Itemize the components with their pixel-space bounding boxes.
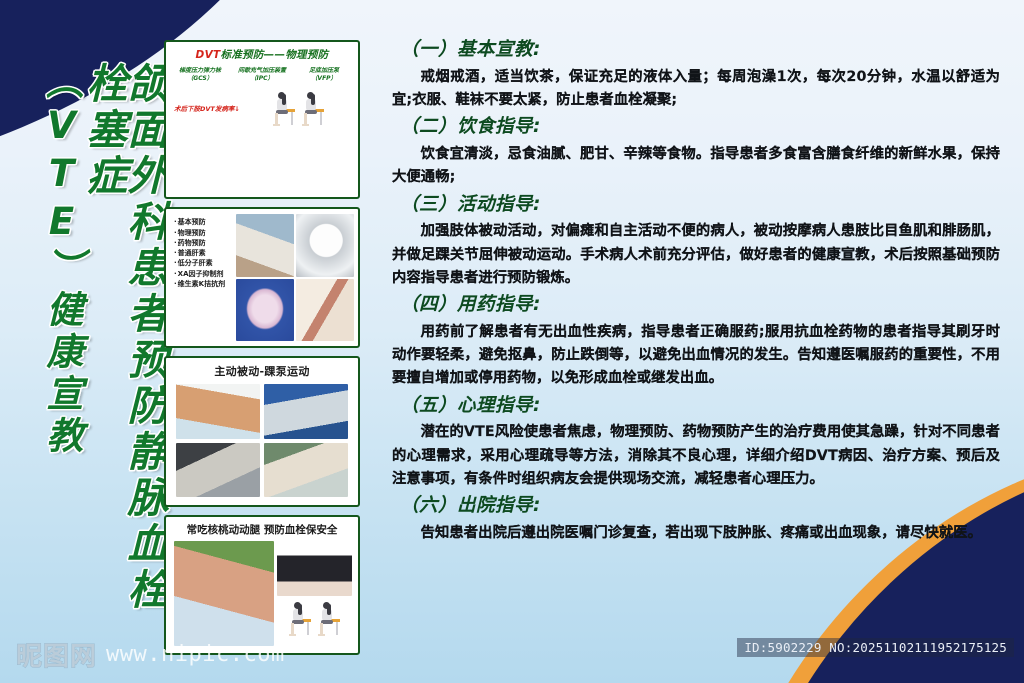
poster-vertical-title: 颌面外科患者预防静脉血栓栓塞症 （VTE）健康宣教 <box>56 62 164 642</box>
seated-exercise-figure-icon <box>287 598 313 646</box>
panel-1-title-red: DVT <box>196 49 221 61</box>
seated-exercise-figure-icon <box>300 88 326 128</box>
medication-tablet-photo <box>236 279 294 341</box>
panel-1-footer-row: 术后下肢DVT发病率↓ <box>170 88 354 128</box>
seated-leg-exercise-photo <box>277 598 352 646</box>
nurse-assisted-ankle-photo <box>264 443 348 498</box>
section-medication-guidance: （四）用药指导: 用药前了解患者有无出血性疾病，指导患者正确服药;服用抗血栓药物… <box>392 291 1000 391</box>
device-caption-gcs: 梯度压力弹力袜 （GCS） <box>172 67 228 82</box>
ankle-pump-blue-drape-photo <box>264 384 348 439</box>
list-item: 物理预防 <box>174 228 232 238</box>
panel-3-title: 主动被动-踝泵运动 <box>170 363 354 379</box>
leg-vein-anatomy-photo <box>296 279 354 341</box>
section-diet-guidance: （二）饮食指导: 饮食宜清淡，忌食油腻、肥甘、辛辣等食物。指导患者多食富含膳食纤… <box>392 113 1000 189</box>
panel-1-title: DVT标准预防——物理预防 <box>170 47 354 62</box>
title-sub-line: （VTE）健康宣教 <box>43 62 80 458</box>
device-cell-ipc: 间歇充气加压装置 （IPC） <box>234 65 290 82</box>
section-discharge-guidance: （六）出院指导: 告知患者出院后遵出院医嘱门诊复查，若出现下肢肿胀、疼痛或出血现… <box>392 492 1000 545</box>
device-caption-ipc: 间歇充气加压装置 （IPC） <box>234 67 290 82</box>
image-id-tag: ID:5902229 NO:20251102111952175125 <box>737 638 1014 657</box>
list-item: 药物预防 <box>174 238 232 248</box>
section-heading: （三）活动指导: <box>400 191 1000 220</box>
guidance-text-column: （一）基本宣教: 戒烟戒酒，适当饮茶，保证充足的液体入量；每周泡澡1次，每次20… <box>392 36 1000 651</box>
section-basic-education: （一）基本宣教: 戒烟戒酒，适当饮茶，保证充足的液体入量；每周泡澡1次，每次20… <box>392 36 1000 112</box>
section-body: 潜在的VTE风险使患者焦虑，物理预防、药物预防产生的治疗费用使其急躁，针对不同患… <box>392 421 1000 491</box>
passive-ankle-exercise-photo <box>176 443 260 498</box>
panel-4-title: 常吃核桃动动腿 预防血栓保安全 <box>170 522 354 537</box>
list-item: 普通肝素 <box>174 248 232 258</box>
section-heading: （二）饮食指导: <box>400 113 1000 142</box>
list-item: XA因子抑制剂 <box>174 269 232 279</box>
panel-4-content <box>170 540 354 648</box>
list-item: 基本预防 <box>174 217 232 227</box>
seated-exercise-figure-icon <box>271 88 297 128</box>
panel-3-image-grid <box>170 382 354 500</box>
prevention-method-list: 基本预防 物理预防 药物预防 普通肝素 低分子肝素 XA因子抑制剂 维生素K拮抗… <box>170 214 232 341</box>
compression-sleeves-photo <box>277 541 352 595</box>
section-body: 告知患者出院后遵出院医嘱门诊复查，若出现下肢肿胀、疼痛或出血现象，请尽快就医。 <box>392 522 1000 545</box>
walking-couple-photo <box>236 214 294 276</box>
leg-massage-photo <box>174 541 274 646</box>
device-caption-vfp: 足底加压泵 （VFP） <box>296 67 352 82</box>
list-item: 维生素K拮抗剂 <box>174 279 232 289</box>
section-body: 用药前了解患者有无出血性疾病，指导患者正确服药;服用抗血栓药物的患者指导其刷牙时… <box>392 321 1000 391</box>
section-body: 戒烟戒酒，适当饮茶，保证充足的液体入量；每周泡澡1次，每次20分钟，水温以舒适为… <box>392 66 1000 113</box>
panel-ankle-pump-exercise: 主动被动-踝泵运动 <box>164 356 360 507</box>
list-item: 低分子肝素 <box>174 258 232 268</box>
section-body: 加强肢体被动活动，对偏瘫和自主活动不便的病人，被动按摩病人患肢比目鱼肌和腓肠肌，… <box>392 220 1000 290</box>
section-psychological-guidance: （五）心理指导: 潜在的VTE风险使患者焦虑，物理预防、药物预防产生的治疗费用使… <box>392 392 1000 492</box>
illustration-panel-column: DVT标准预防——物理预防 梯度压力弹力袜 （GCS） 间歇充气加压装置 （IP… <box>164 40 360 655</box>
section-activity-guidance: （三）活动指导: 加强肢体被动活动，对偏瘫和自主活动不便的病人，被动按摩病人患肢… <box>392 191 1000 291</box>
panel-1-title-green: 标准预防——物理预防 <box>220 49 328 61</box>
panel-2-content: 基本预防 物理预防 药物预防 普通肝素 低分子肝素 XA因子抑制剂 维生素K拮抗… <box>170 214 354 341</box>
device-cell-gcs: 梯度压力弹力袜 （GCS） <box>172 65 228 82</box>
panel-4-left-image <box>174 541 274 646</box>
section-heading: （六）出院指导: <box>400 492 1000 521</box>
poster-canvas: 颌面外科患者预防静脉血栓栓塞症 （VTE）健康宣教 DVT标准预防——物理预防 … <box>0 0 1024 683</box>
panel-1-device-row: 梯度压力弹力袜 （GCS） 间歇充气加压装置 （IPC） 足底加压泵 （VF <box>170 65 354 82</box>
ankle-dorsiflexion-photo <box>176 384 260 439</box>
section-heading: （一）基本宣教: <box>400 36 1000 65</box>
panel-walnut-leg-exercise: 常吃核桃动动腿 预防血栓保安全 <box>164 515 360 655</box>
seated-exercise-figure-icon <box>316 598 342 646</box>
panel-prevention-methods: 基本预防 物理预防 药物预防 普通肝素 低分子肝素 XA因子抑制剂 维生素K拮抗… <box>164 207 360 348</box>
panel-2-image-grid <box>236 214 354 341</box>
section-heading: （五）心理指导: <box>400 392 1000 421</box>
compression-device-photo <box>296 214 354 276</box>
panel-4-right-column <box>277 541 352 646</box>
section-heading: （四）用药指导: <box>400 291 1000 320</box>
seated-exercise-figures <box>244 88 354 128</box>
title-main-line: 颌面外科患者预防静脉血栓栓塞症 <box>82 62 164 642</box>
device-cell-vfp: 足底加压泵 （VFP） <box>296 65 352 82</box>
panel-1-alert-note: 术后下肢DVT发病率↓ <box>170 103 240 113</box>
panel-dvt-physical-prevention: DVT标准预防——物理预防 梯度压力弹力袜 （GCS） 间歇充气加压装置 （IP… <box>164 40 360 199</box>
section-body: 饮食宜清淡，忌食油腻、肥甘、辛辣等食物。指导患者多食富含膳食纤维的新鲜水果，保持… <box>392 143 1000 190</box>
